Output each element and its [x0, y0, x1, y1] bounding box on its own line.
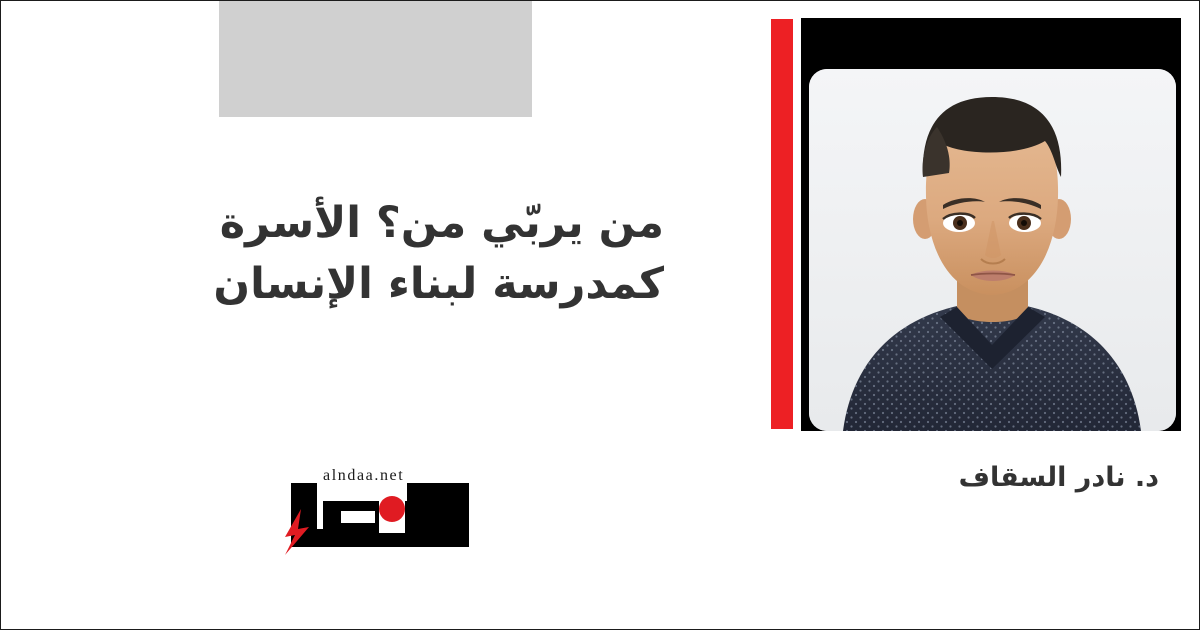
accent-red-bar	[771, 19, 793, 429]
author-photo	[809, 69, 1176, 431]
headline: من يربّي من؟ الأسرة كمدرسة لبناء الإنسان	[104, 193, 664, 315]
logo-dot-icon	[379, 496, 405, 522]
author-photo-illustration	[809, 69, 1176, 431]
article-share-card: من يربّي من؟ الأسرة كمدرسة لبناء الإنسان	[0, 0, 1200, 630]
author-name: د. نادر السقاف	[959, 462, 1159, 493]
image-placeholder-block	[219, 1, 532, 117]
portrait-module	[761, 1, 1200, 451]
logo-domain-text: alndaa.net	[323, 467, 404, 485]
site-logo[interactable]: alndaa.net	[279, 453, 481, 559]
headline-line-2: كمدرسة لبناء الإنسان	[104, 254, 664, 315]
headline-line-1: من يربّي من؟ الأسرة	[104, 193, 664, 254]
